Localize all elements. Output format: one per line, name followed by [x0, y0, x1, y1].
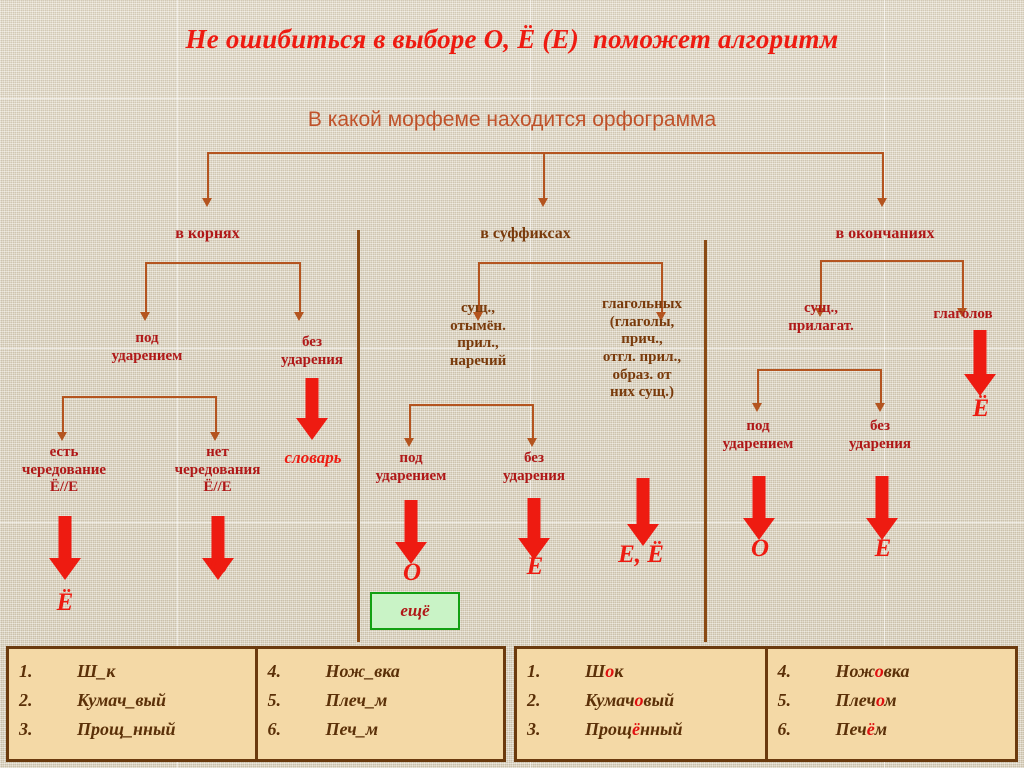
- row-word: Печ_м: [326, 715, 379, 744]
- exercise-table-column-1: 1. Ш_к 2. Кумач_вый 3. Прощ_нный: [9, 649, 255, 759]
- table-row: 2. Кумач_вый: [19, 686, 255, 715]
- roots-branch-left: [145, 262, 147, 314]
- branch-title-suffixes: в суффиксах: [428, 225, 623, 244]
- table-row: 4. Нож_вка: [268, 657, 504, 686]
- suffixes-branch-bar: [478, 262, 663, 264]
- endings-result-verbal: Ё: [954, 394, 1008, 424]
- red-arrow-down-icon: [865, 476, 899, 542]
- endings-branch-right: [962, 260, 964, 310]
- red-arrow-down-icon: [963, 330, 997, 400]
- row-number: 6.: [778, 715, 836, 744]
- exercise-table: 1. Ш_к 2. Кумач_вый 3. Прощ_нный 4. Нож_…: [6, 646, 506, 762]
- endings-sub-bar: [757, 369, 882, 371]
- red-arrow-down-icon: [394, 500, 428, 566]
- row-number: 2.: [19, 686, 77, 715]
- suffixes-sub-right: [532, 404, 534, 440]
- row-number: 3.: [19, 715, 77, 744]
- table-row: 5. Плеч_м: [268, 686, 504, 715]
- subtitle-question: В какой морфеме находится орфограмма: [0, 108, 1024, 132]
- arrow-tip-icon: [538, 198, 548, 207]
- highlight-letter: ё: [632, 719, 640, 739]
- arrow-tip-icon: [210, 432, 220, 441]
- top-connector-right: [882, 152, 884, 200]
- suffixes-result-verbal: Е, Ё: [590, 540, 692, 570]
- highlight-letter: ё: [867, 719, 875, 739]
- table-row: 4. Ножовка: [778, 657, 1016, 686]
- suffixes-unstressed-label: без ударения: [486, 450, 582, 485]
- row-word: Печём: [836, 715, 888, 744]
- top-connector-bar: [207, 152, 884, 154]
- background-seam: [0, 98, 1024, 99]
- exercise-table-column-2: 4. Нож_вка 5. Плеч_м 6. Печ_м: [255, 649, 504, 759]
- top-connector-mid: [543, 152, 545, 200]
- row-word: Плеч_м: [326, 686, 388, 715]
- red-arrow-down-icon: [742, 476, 776, 542]
- table-row: 6. Печём: [778, 715, 1016, 744]
- red-arrow-down-icon: [48, 516, 82, 582]
- row-number: 6.: [268, 715, 326, 744]
- table-row: 3. Прощ_нный: [19, 715, 255, 744]
- endings-unstressed-label: без ударения: [832, 418, 928, 453]
- row-number: 3.: [527, 715, 585, 744]
- table-row: 5. Плечом: [778, 686, 1016, 715]
- suffixes-nominal-label: сущ., отымён. прил., наречий: [418, 300, 538, 371]
- page-title: Не ошибиться в выборе О, Ё (Е) поможет а…: [0, 24, 1024, 55]
- branch-title-roots: в корнях: [130, 225, 285, 244]
- endings-sub-left: [757, 369, 759, 405]
- slide-canvas: Не ошибиться в выборе О, Ё (Е) поможет а…: [0, 0, 1024, 768]
- answer-table: 1. Шок 2. Кумачовый 3. Прощённый 4. Ножо…: [514, 646, 1018, 762]
- answer-table-column-2: 4. Ножовка 5. Плечом 6. Печём: [765, 649, 1016, 759]
- row-number: 1.: [527, 657, 585, 686]
- branch-title-endings: в окончаниях: [790, 225, 980, 244]
- suffixes-result-stressed: О: [385, 558, 439, 588]
- more-button[interactable]: ещё: [370, 592, 460, 630]
- endings-sub-right: [880, 369, 882, 405]
- row-number: 4.: [778, 657, 836, 686]
- roots-result-alternation-no: О: [192, 552, 246, 582]
- row-number: 1.: [19, 657, 77, 686]
- endings-branch-bar: [820, 260, 964, 262]
- endings-verbal-label: глаголов: [910, 306, 1016, 324]
- arrow-tip-icon: [875, 403, 885, 412]
- table-row: 2. Кумачовый: [527, 686, 765, 715]
- roots-branch-bar: [145, 262, 301, 264]
- row-word: Нож_вка: [326, 657, 400, 686]
- highlight-letter: о: [875, 661, 884, 681]
- row-number: 5.: [268, 686, 326, 715]
- row-number: 4.: [268, 657, 326, 686]
- highlight-letter: о: [605, 661, 614, 681]
- arrow-tip-icon: [57, 432, 67, 441]
- roots-unstressed-label: без ударения: [262, 334, 362, 369]
- suffixes-result-unstressed: Е: [508, 552, 562, 582]
- row-number: 2.: [527, 686, 585, 715]
- roots-sub-right: [215, 396, 217, 434]
- arrow-tip-icon: [752, 403, 762, 412]
- roots-sub-left: [62, 396, 64, 434]
- arrow-tip-icon: [404, 438, 414, 447]
- suffixes-verbal-label: глагольных (глаголы, прич., отгл. прил.,…: [572, 296, 712, 402]
- row-word: Кумач_вый: [77, 686, 166, 715]
- roots-branch-right: [299, 262, 301, 314]
- roots-alternation-no-label: нет чередования Ё//Е: [160, 444, 275, 497]
- row-word: Ножовка: [836, 657, 910, 686]
- table-row: 1. Шок: [527, 657, 765, 686]
- arrow-tip-icon: [877, 198, 887, 207]
- roots-stressed-label: под ударением: [88, 330, 206, 365]
- roots-unstressed-result: словарь: [272, 448, 354, 468]
- table-row: 3. Прощённый: [527, 715, 765, 744]
- roots-sub-bar: [62, 396, 217, 398]
- table-row: 1. Ш_к: [19, 657, 255, 686]
- arrow-tip-icon: [294, 312, 304, 321]
- row-word: Плечом: [836, 686, 897, 715]
- answer-table-column-1: 1. Шок 2. Кумачовый 3. Прощённый: [517, 649, 765, 759]
- endings-nominal-label: сущ., прилагат.: [758, 300, 884, 335]
- red-arrow-down-icon: [295, 378, 329, 440]
- row-word: Кумачовый: [585, 686, 674, 715]
- arrow-tip-icon: [140, 312, 150, 321]
- highlight-letter: о: [635, 690, 644, 710]
- roots-result-alternation-yes: Ё: [38, 588, 92, 618]
- column-divider-left: [357, 230, 360, 642]
- endings-stressed-label: под ударением: [702, 418, 814, 453]
- suffixes-stressed-label: под ударением: [355, 450, 467, 485]
- row-number: 5.: [778, 686, 836, 715]
- row-word: Прощ_нный: [77, 715, 175, 744]
- roots-alternation-yes-label: есть чередование Ё//Е: [8, 444, 120, 497]
- table-row: 6. Печ_м: [268, 715, 504, 744]
- arrow-tip-icon: [202, 198, 212, 207]
- endings-result-stressed: О: [733, 534, 787, 564]
- endings-result-unstressed: Е: [856, 534, 910, 564]
- row-word: Прощённый: [585, 715, 683, 744]
- arrow-tip-icon: [527, 438, 537, 447]
- top-connector-left: [207, 152, 209, 200]
- suffixes-sub-left: [409, 404, 411, 440]
- row-word: Ш_к: [77, 657, 115, 686]
- row-word: Шок: [585, 657, 623, 686]
- suffixes-sub-bar: [409, 404, 534, 406]
